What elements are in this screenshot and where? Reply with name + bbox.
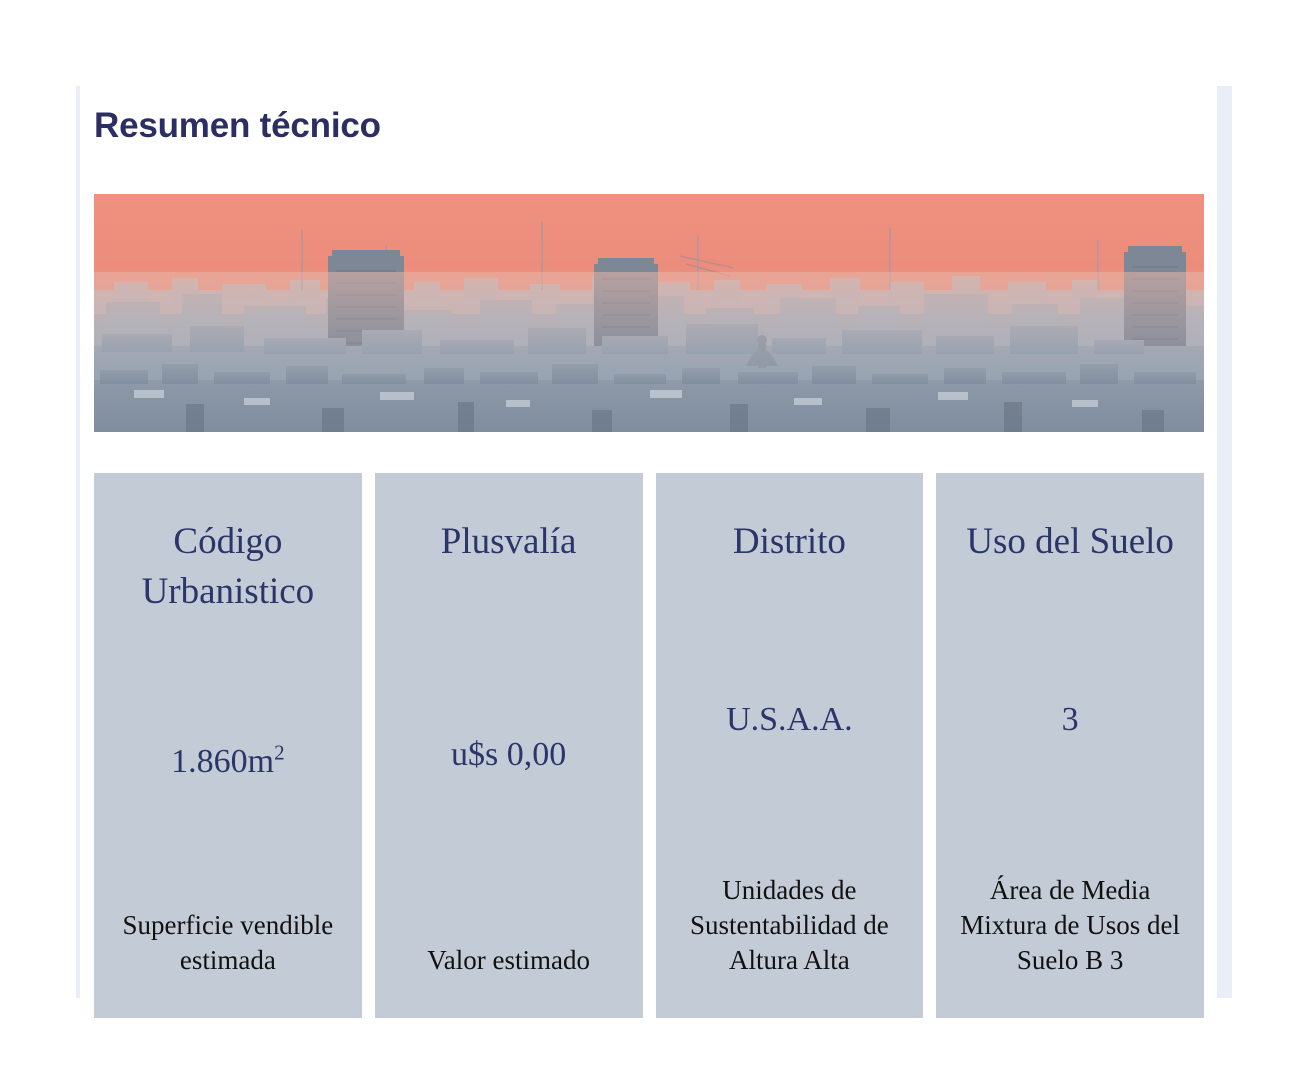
card-title: Código Urbanistico — [110, 517, 345, 618]
panel-content: Resumen técnico — [94, 86, 1204, 1018]
card-title: Plusvalía — [441, 517, 577, 567]
summary-cards: Código Urbanistico 1.860m2 Superficie ve… — [94, 473, 1204, 1018]
page-root: Resumen técnico — [0, 0, 1296, 1080]
card-caption: Superficie vendible estimada — [104, 908, 352, 978]
card-caption: Valor estimado — [427, 943, 590, 978]
card-caption: Área de Media Mixtura de Usos del Suelo … — [946, 873, 1194, 978]
card-value: 3 — [1062, 700, 1079, 741]
card-value: 1.860m2 — [171, 742, 285, 783]
banner-image — [94, 194, 1204, 432]
summary-card-codigo-urbanistico: Código Urbanistico 1.860m2 Superficie ve… — [94, 473, 362, 1018]
card-caption: Unidades de Sustentabilidad de Altura Al… — [666, 873, 914, 978]
card-value-superscript: 2 — [274, 741, 285, 765]
summary-card-uso-del-suelo: Uso del Suelo 3 Área de Media Mixtura de… — [936, 473, 1204, 1018]
card-value: U.S.A.A. — [726, 700, 853, 741]
panel-right-rule — [1217, 86, 1232, 998]
card-title: Uso del Suelo — [966, 517, 1174, 567]
card-value: u$s 0,00 — [451, 735, 566, 776]
skyline-illustration — [94, 194, 1204, 432]
summary-card-plusvalia: Plusvalía u$s 0,00 Valor estimado — [375, 473, 643, 1018]
summary-card-distrito: Distrito U.S.A.A. Unidades de Sustentabi… — [656, 473, 924, 1018]
card-title: Distrito — [733, 517, 846, 567]
panel-left-rule — [76, 86, 80, 998]
card-value-text: 1.860m — [171, 743, 274, 780]
card-value-text: 3 — [1062, 701, 1079, 738]
card-value-text: U.S.A.A. — [726, 701, 853, 738]
page-title: Resumen técnico — [94, 86, 1204, 164]
card-value-text: u$s 0,00 — [451, 736, 566, 773]
